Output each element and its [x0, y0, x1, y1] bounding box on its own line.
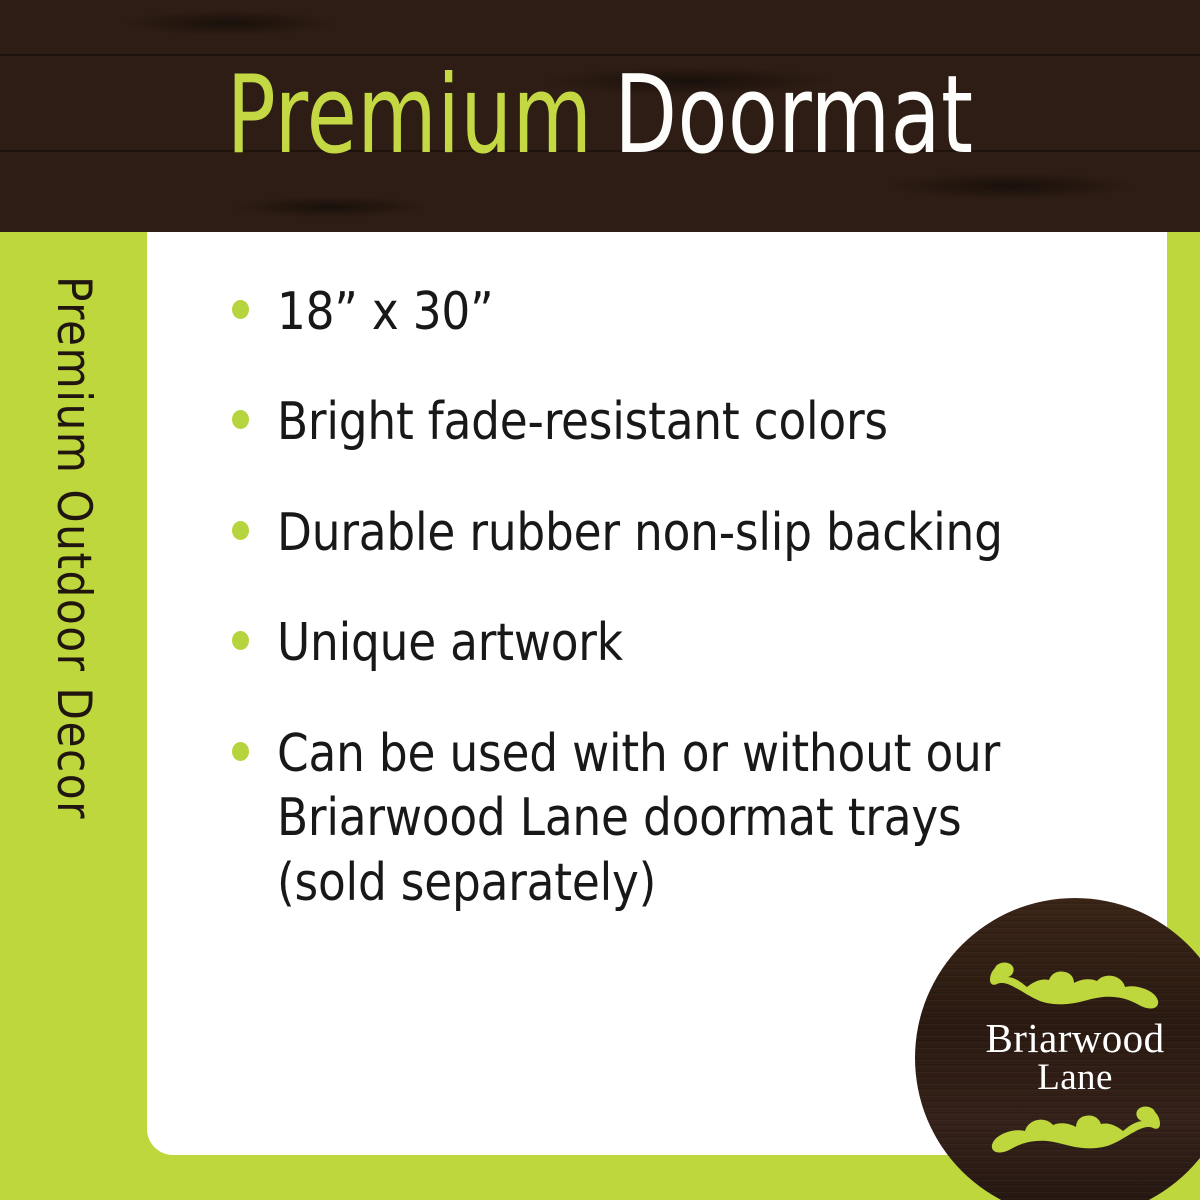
bullet-dot-icon [232, 742, 249, 761]
feature-text: Unique artwork [277, 611, 623, 675]
frame-bottom-strip [0, 1155, 1200, 1200]
list-item: 18” x 30” [229, 280, 1099, 344]
list-item: Durable rubber non-slip backing [229, 501, 1099, 565]
list-item: Unique artwork [229, 611, 1099, 675]
bullet-dot-icon [232, 631, 249, 650]
bullet-dot-icon [232, 300, 249, 319]
feature-panel: 18” x 30” Bright fade-resistant colors D… [147, 232, 1167, 1155]
list-item: Bright fade-resistant colors [229, 390, 1099, 454]
sidebar-vertical-label: Premium Outdoor Decor [0, 232, 147, 1200]
feature-text: Can be used with or without our Briarwoo… [277, 722, 1074, 915]
sidebar-rail: Premium Outdoor Decor [0, 232, 147, 1200]
bullet-dot-icon [232, 410, 249, 429]
bullet-dot-icon [232, 521, 249, 540]
list-item: Can be used with or without our Briarwoo… [229, 722, 1099, 915]
page-title: Premium Doormat [96, 0, 1104, 232]
frame-right-strip [1167, 232, 1200, 1200]
page-title-main: Doormat [614, 62, 973, 170]
feature-list: 18” x 30” Bright fade-resistant colors D… [229, 280, 1099, 915]
feature-text: Bright fade-resistant colors [277, 390, 888, 454]
feature-text: Durable rubber non-slip backing [277, 501, 1003, 565]
product-infographic: Premium Doormat Premium Outdoor Decor 18… [0, 0, 1200, 1200]
page-title-accent: Premium [227, 62, 593, 170]
feature-text: 18” x 30” [277, 280, 493, 344]
